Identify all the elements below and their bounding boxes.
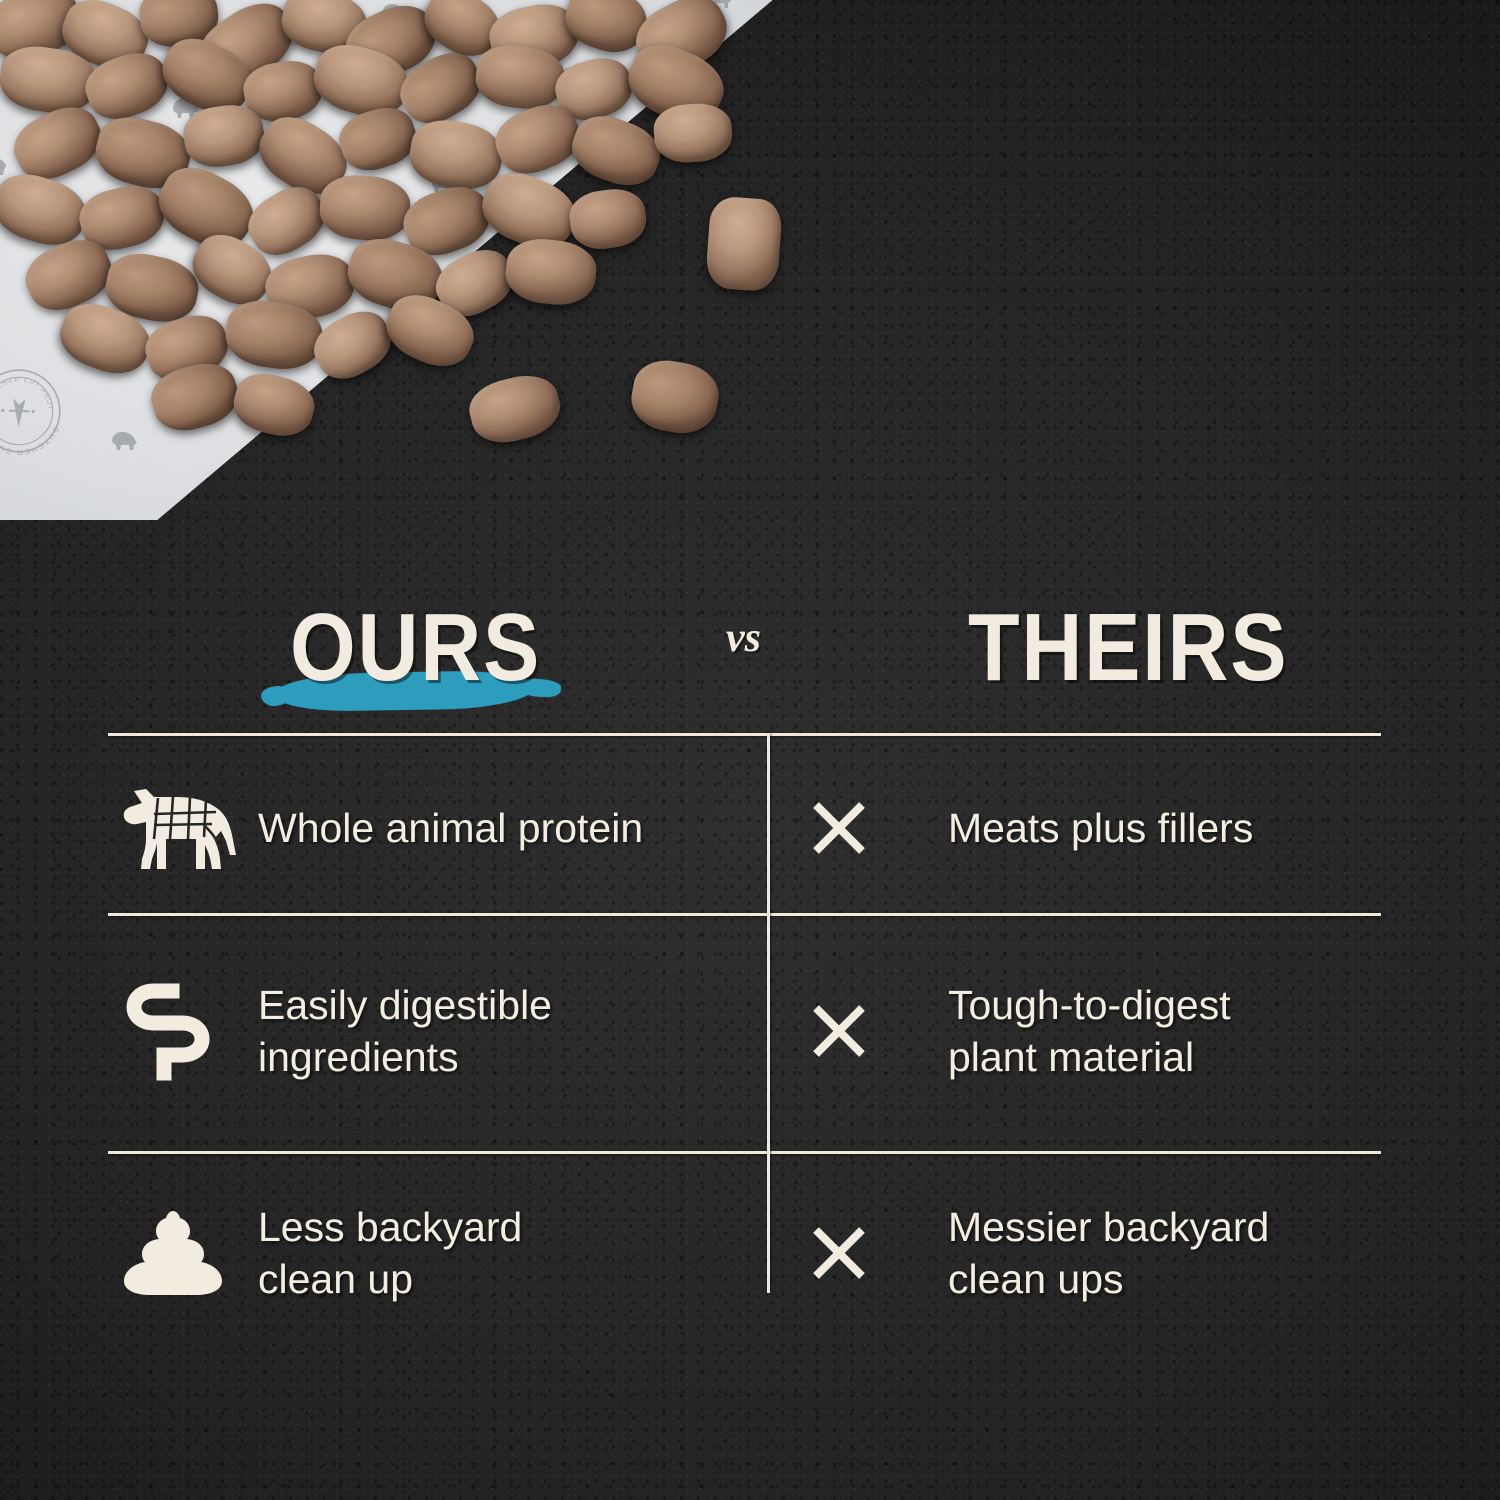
poop-icon <box>120 1209 226 1297</box>
feature-label-ours-2: Easily digestible ingredients <box>258 979 552 1083</box>
comparison-infographic: BUTCHER CUT PROTEIN BUTCHER CUT PROTEIN <box>0 0 1500 1500</box>
feature-label-ours-1: Whole animal protein <box>258 802 643 854</box>
heading-ours: OURS <box>290 600 541 696</box>
table-vertical-divider <box>767 733 770 1293</box>
icon-container <box>780 1224 948 1282</box>
comparison-table: Whole animal protein Meats plus fillers <box>108 733 1381 1293</box>
icon-container <box>108 981 258 1081</box>
x-mark-icon <box>810 1002 868 1060</box>
table-row: Easily digestible ingredients <box>108 931 758 1131</box>
kibble-pile <box>0 0 880 520</box>
table-row: Meats plus fillers <box>780 753 1380 903</box>
feature-label-theirs-1: Meats plus fillers <box>948 802 1253 854</box>
table-rule-bottom <box>108 1151 1381 1154</box>
feature-label-theirs-3: Messier backyard clean ups <box>948 1201 1269 1305</box>
table-row: Whole animal protein <box>108 753 758 903</box>
intestine-digestion-icon <box>120 981 216 1081</box>
icon-container <box>108 1209 258 1297</box>
table-row: Less backyard clean up <box>108 1173 758 1333</box>
product-photo: BUTCHER CUT PROTEIN BUTCHER CUT PROTEIN <box>0 0 880 520</box>
feature-label-ours-3: Less backyard clean up <box>258 1201 522 1305</box>
feature-label-theirs-2: Tough-to-digest plant material <box>948 979 1231 1083</box>
table-rule-middle <box>108 913 1381 916</box>
table-row: Tough-to-digest plant material <box>780 931 1380 1131</box>
x-mark-icon <box>810 1224 868 1282</box>
table-row: Messier backyard clean ups <box>780 1173 1380 1333</box>
icon-container <box>108 781 258 875</box>
icon-container <box>780 1002 948 1060</box>
heading-theirs: THEIRS <box>968 600 1288 696</box>
cow-butcher-cut-icon <box>120 781 244 875</box>
x-mark-icon <box>810 799 868 857</box>
heading-vs-separator: vs <box>726 614 761 662</box>
icon-container <box>780 799 948 857</box>
table-rule-top <box>108 733 1381 736</box>
